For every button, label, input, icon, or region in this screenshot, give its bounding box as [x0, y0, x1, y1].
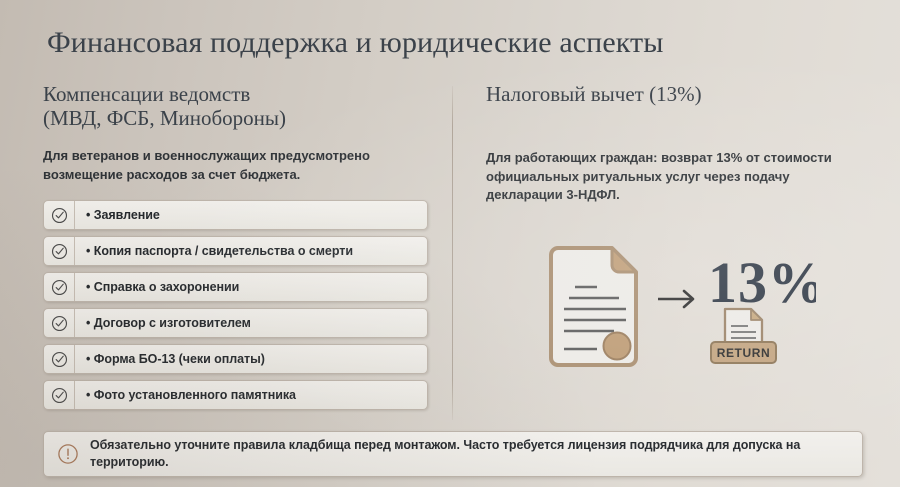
arrow-right-icon	[658, 291, 693, 307]
list-item[interactable]: • Копия паспорта / свидетельства о смерт…	[43, 236, 428, 266]
list-item-label: • Копия паспорта / свидетельства о смерт…	[75, 244, 353, 258]
percent-label: 13%	[708, 250, 816, 315]
check-icon-cell	[44, 273, 75, 301]
warning-text: Обязательно уточните правила кладбища пе…	[90, 437, 848, 471]
check-circle-icon	[51, 243, 68, 260]
check-icon-cell	[44, 381, 75, 409]
check-icon-cell	[44, 345, 75, 373]
list-item[interactable]: • Форма БО-13 (чеки оплаты)	[43, 344, 428, 374]
list-item[interactable]: • Фото установленного памятника	[43, 380, 428, 410]
document-with-seal-icon	[551, 248, 636, 365]
right-section-heading: Налоговый вычет (13%)	[486, 82, 866, 106]
document-checklist: • Заявление • Копия паспорта / свидетель…	[43, 200, 428, 410]
check-circle-icon	[51, 351, 68, 368]
left-column: Компенсации ведомств (МВД, ФСБ, Миноборо…	[43, 82, 428, 410]
right-column: Налоговый вычет (13%) Для работающих гра…	[486, 82, 866, 205]
check-circle-icon	[51, 315, 68, 332]
check-icon-cell	[44, 237, 75, 265]
list-item-label: • Справка о захоронении	[75, 280, 239, 294]
check-circle-icon	[51, 207, 68, 224]
svg-text:13%: 13%	[708, 250, 816, 315]
warning-banner: Обязательно уточните правила кладбища пе…	[43, 431, 863, 477]
svg-text:RETURN: RETURN	[717, 346, 771, 360]
left-heading-line1: Компенсации ведомств	[43, 82, 250, 106]
check-icon-cell	[44, 201, 75, 229]
exclamation-circle-icon	[57, 443, 79, 465]
left-heading-line2: (МВД, ФСБ, Минобороны)	[43, 106, 428, 130]
left-body-text: Для ветеранов и военнослужащих предусмот…	[43, 147, 428, 184]
list-item-label: • Договор с изготовителем	[75, 316, 251, 330]
right-body-text: Для работающих граждан: возврат 13% от с…	[486, 149, 866, 205]
list-item-label: • Заявление	[75, 208, 160, 222]
slide-root: Финансовая поддержка и юридические аспек…	[0, 0, 900, 487]
list-item[interactable]: • Справка о захоронении	[43, 272, 428, 302]
left-section-heading: Компенсации ведомств (МВД, ФСБ, Миноборо…	[43, 82, 428, 130]
check-icon-cell	[44, 309, 75, 337]
list-item-label: • Форма БО-13 (чеки оплаты)	[75, 352, 265, 366]
page-title: Финансовая поддержка и юридические аспек…	[47, 26, 663, 60]
column-divider	[452, 86, 453, 420]
list-item[interactable]: • Договор с изготовителем	[43, 308, 428, 338]
list-item[interactable]: • Заявление	[43, 200, 428, 230]
check-circle-icon	[51, 387, 68, 404]
check-circle-icon	[51, 279, 68, 296]
return-document-icon: RETURN	[711, 309, 776, 363]
tax-deduction-illustration: 13% RETURN	[486, 232, 816, 382]
list-item-label: • Фото установленного памятника	[75, 388, 296, 402]
